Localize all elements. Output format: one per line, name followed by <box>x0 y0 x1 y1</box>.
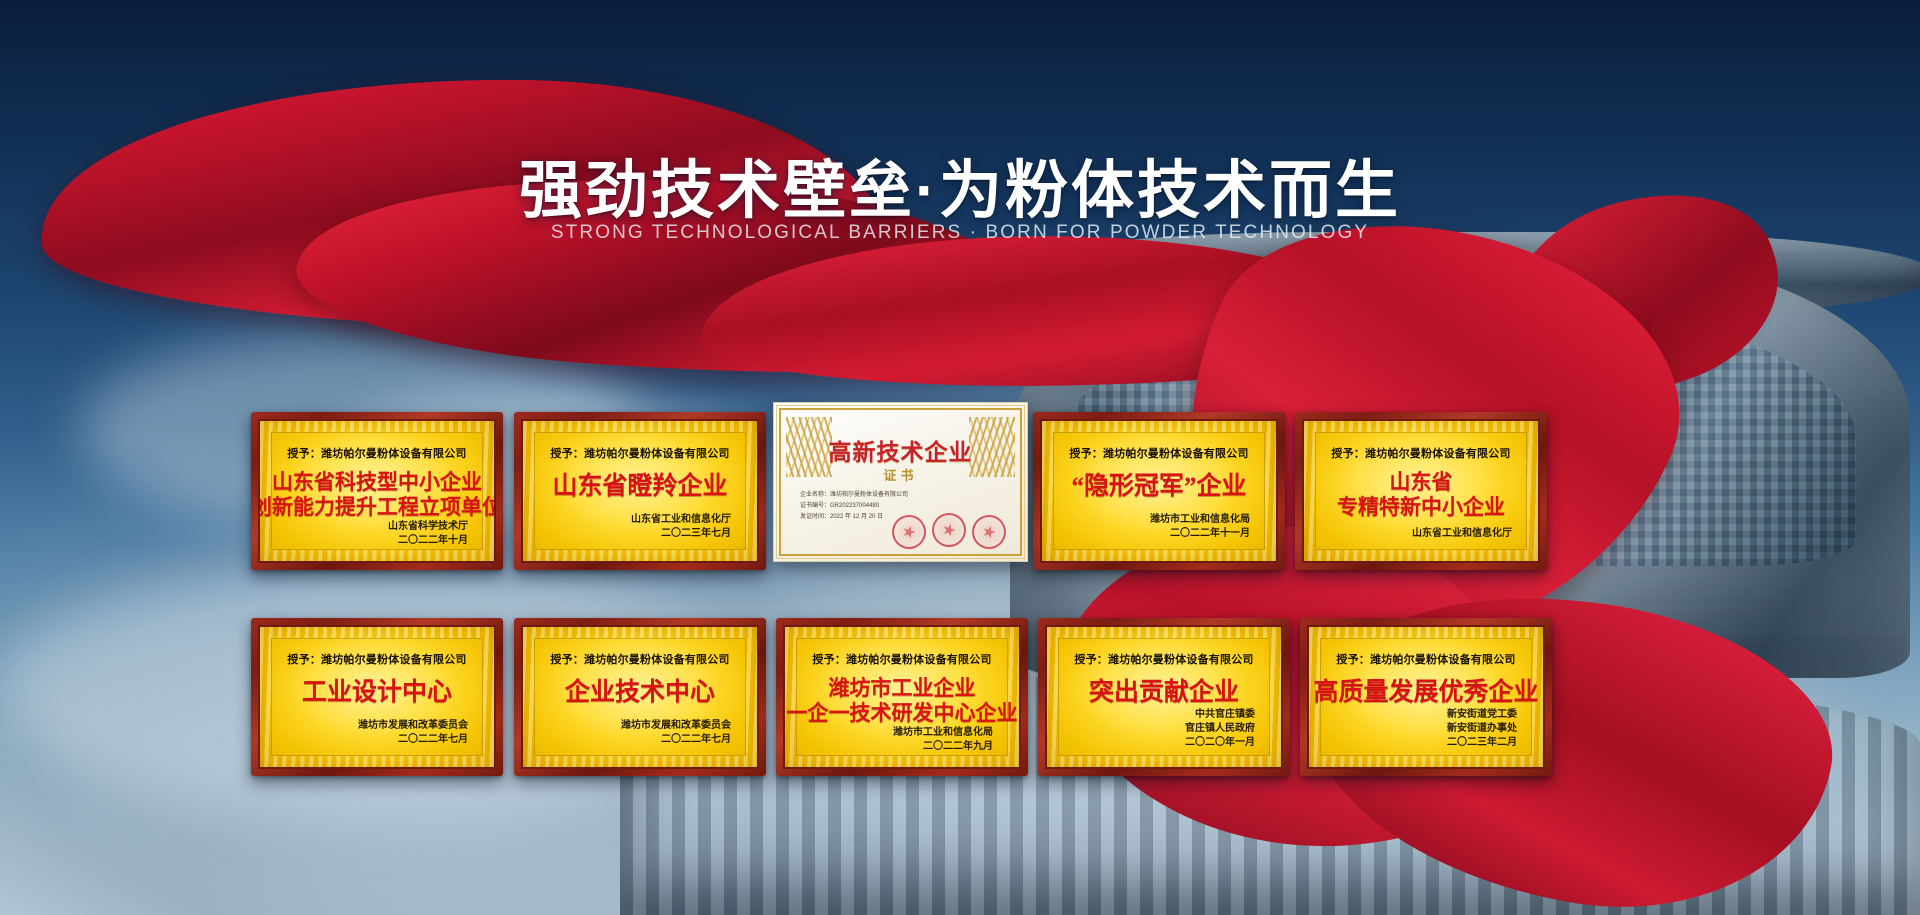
certificate-gallery: 授予：潍坊帕尔曼粉体设备有限公司 山东省科技型中小企业 创新能力提升工程立项单位… <box>0 0 1920 915</box>
plaque-issuer: 山东省工业和信息化厅 <box>631 513 731 527</box>
plaque-footer: 中共官庄镇委 官庄镇人民政府 二〇二〇年一月 <box>1185 708 1255 750</box>
plaque-title-line2: 创新能力提升工程立项单位 <box>258 495 496 520</box>
certificate-detail-line: 发证时间：2022 年 12 月 20 日 <box>800 511 883 520</box>
official-seal-icon <box>892 515 926 549</box>
plaque-footer: 新安街道党工委 新安街道办事处 二〇二三年二月 <box>1447 708 1517 750</box>
plaque-award-to: 授予：潍坊帕尔曼粉体设备有限公司 <box>1336 651 1515 667</box>
certificate-detail-line: 证书编号：GR202237004480 <box>800 500 879 509</box>
plaque-title-line1: 高质量发展优秀企业 <box>1313 678 1538 708</box>
plaque-panel: 授予：潍坊帕尔曼粉体设备有限公司 潍坊市工业企业 一企一技术研发中心企业 潍坊市… <box>783 625 1021 769</box>
plaque-issuer-2: 新安街道办事处 <box>1447 722 1517 736</box>
high-tech-enterprise-certificate[interactable]: 高新技术企业 证书 企业名称：潍坊帕尔曼粉体设备有限公司 证书编号：GR2022… <box>773 402 1028 562</box>
plaque-award-to: 授予：潍坊帕尔曼粉体设备有限公司 <box>287 651 466 667</box>
plaque-issuer: 山东省科学技术厅 <box>388 520 468 534</box>
plaque-issuer: 潍坊市发展和改革委员会 <box>358 719 468 733</box>
certificate-title: 高新技术企业 <box>774 433 1027 467</box>
plaque-award-to: 授予：潍坊帕尔曼粉体设备有限公司 <box>1074 651 1253 667</box>
plaque-panel: 授予：潍坊帕尔曼粉体设备有限公司 企业技术中心 潍坊市发展和改革委员会 二〇二二… <box>521 625 759 769</box>
plaque-footer: 山东省科学技术厅 二〇二二年十月 <box>388 520 468 548</box>
certificate-plaque[interactable]: 授予：潍坊帕尔曼粉体设备有限公司 工业设计中心 潍坊市发展和改革委员会 二〇二二… <box>251 618 503 776</box>
plaque-panel: 授予：潍坊帕尔曼粉体设备有限公司 山东省科技型中小企业 创新能力提升工程立项单位… <box>258 419 496 563</box>
plaque-title-line2: 专精特新中小企业 <box>1337 495 1505 520</box>
plaque-title-line1: 企业技术中心 <box>565 678 715 708</box>
plaque-footer: 山东省工业和信息化厅 二〇二三年七月 <box>631 513 731 541</box>
plaque-award-to: 授予：潍坊帕尔曼粉体设备有限公司 <box>1331 445 1510 461</box>
plaque-title-line1: 突出贡献企业 <box>1089 678 1239 708</box>
certificate-plaque[interactable]: 授予：潍坊帕尔曼粉体设备有限公司 突出贡献企业 中共官庄镇委 官庄镇人民政府 二… <box>1038 618 1290 776</box>
plaque-award-to: 授予：潍坊帕尔曼粉体设备有限公司 <box>812 651 991 667</box>
plaque-title: 山东省科技型中小企业 创新能力提升工程立项单位 <box>258 470 496 520</box>
plaque-footer: 山东省工业和信息化厅 <box>1412 527 1512 541</box>
plaque-issuer: 潍坊市工业和信息化局 <box>893 726 993 740</box>
certificate-plaque[interactable]: 授予：潍坊帕尔曼粉体设备有限公司 企业技术中心 潍坊市发展和改革委员会 二〇二二… <box>514 618 766 776</box>
plaque-title-line1: 山东省瞪羚企业 <box>552 472 727 502</box>
plaque-panel: 授予：潍坊帕尔曼粉体设备有限公司 工业设计中心 潍坊市发展和改革委员会 二〇二二… <box>258 625 496 769</box>
plaque-panel: 授予：潍坊帕尔曼粉体设备有限公司 山东省瞪羚企业 山东省工业和信息化厅 二〇二三… <box>521 419 759 563</box>
plaque-date: 二〇二〇年一月 <box>1185 736 1255 750</box>
plaque-date: 二〇二三年七月 <box>631 527 731 541</box>
official-seal-icon <box>932 513 966 547</box>
plaque-footer: 潍坊市发展和改革委员会 二〇二二年七月 <box>358 719 468 747</box>
plaque-title-line1: 山东省科技型中小企业 <box>258 470 496 495</box>
certificate-plaque[interactable]: 授予：潍坊帕尔曼粉体设备有限公司 山东省瞪羚企业 山东省工业和信息化厅 二〇二三… <box>514 412 766 570</box>
certificate-plaque[interactable]: 授予：潍坊帕尔曼粉体设备有限公司 高质量发展优秀企业 新安街道党工委 新安街道办… <box>1300 618 1552 776</box>
certificate-plaque[interactable]: 授予：潍坊帕尔曼粉体设备有限公司 山东省科技型中小企业 创新能力提升工程立项单位… <box>251 412 503 570</box>
plaque-title: 山东省瞪羚企业 <box>552 472 727 502</box>
certificate-plaque[interactable]: 授予：潍坊帕尔曼粉体设备有限公司 “隐形冠军”企业 潍坊市工业和信息化局 二〇二… <box>1033 412 1285 570</box>
plaque-date: 二〇二三年二月 <box>1447 736 1517 750</box>
plaque-title: 潍坊市工业企业 一企一技术研发中心企业 <box>787 676 1018 726</box>
plaque-issuer: 新安街道党工委 <box>1447 708 1517 722</box>
certificate-detail-line: 企业名称：潍坊帕尔曼粉体设备有限公司 <box>800 489 908 498</box>
plaque-title-line1: 工业设计中心 <box>302 678 452 708</box>
plaque-date: 二〇二二年十一月 <box>1150 527 1250 541</box>
plaque-title-line2: 一企一技术研发中心企业 <box>787 701 1018 726</box>
plaque-issuer: 中共官庄镇委 <box>1185 708 1255 722</box>
plaque-issuer: 山东省工业和信息化厅 <box>1412 527 1512 541</box>
plaque-footer: 潍坊市发展和改革委员会 二〇二二年七月 <box>621 719 731 747</box>
plaque-date: 二〇二二年十月 <box>388 534 468 548</box>
plaque-award-to: 授予：潍坊帕尔曼粉体设备有限公司 <box>1069 445 1248 461</box>
plaque-date: 二〇二二年九月 <box>893 740 993 754</box>
plaque-title: 山东省 专精特新中小企业 <box>1337 470 1505 520</box>
certificate-plaque[interactable]: 授予：潍坊帕尔曼粉体设备有限公司 潍坊市工业企业 一企一技术研发中心企业 潍坊市… <box>776 618 1028 776</box>
plaque-panel: 授予：潍坊帕尔曼粉体设备有限公司 突出贡献企业 中共官庄镇委 官庄镇人民政府 二… <box>1045 625 1283 769</box>
plaque-footer: 潍坊市工业和信息化局 二〇二二年十一月 <box>1150 513 1250 541</box>
plaque-award-to: 授予：潍坊帕尔曼粉体设备有限公司 <box>550 651 729 667</box>
plaque-panel: 授予：潍坊帕尔曼粉体设备有限公司 高质量发展优秀企业 新安街道党工委 新安街道办… <box>1307 625 1545 769</box>
certificate-plaque[interactable]: 授予：潍坊帕尔曼粉体设备有限公司 山东省 专精特新中小企业 山东省工业和信息化厅 <box>1295 412 1547 570</box>
plaque-title-line1: 山东省 <box>1337 470 1505 495</box>
page-subtitle: STRONG TECHNOLOGICAL BARRIERS · BORN FOR… <box>0 222 1920 244</box>
plaque-award-to: 授予：潍坊帕尔曼粉体设备有限公司 <box>287 445 466 461</box>
plaque-date: 二〇二二年七月 <box>358 733 468 747</box>
plaque-title-line1: 潍坊市工业企业 <box>787 676 1018 701</box>
plaque-panel: 授予：潍坊帕尔曼粉体设备有限公司 “隐形冠军”企业 潍坊市工业和信息化局 二〇二… <box>1040 419 1278 563</box>
plaque-title: 突出贡献企业 <box>1089 678 1239 708</box>
certificate-subtitle: 证书 <box>774 465 1027 484</box>
plaque-title: “隐形冠军”企业 <box>1071 472 1246 502</box>
plaque-footer: 潍坊市工业和信息化局 二〇二二年九月 <box>893 726 993 754</box>
official-seal-icon <box>972 515 1006 549</box>
plaque-issuer: 潍坊市工业和信息化局 <box>1150 513 1250 527</box>
plaque-issuer: 潍坊市发展和改革委员会 <box>621 719 731 733</box>
plaque-panel: 授予：潍坊帕尔曼粉体设备有限公司 山东省 专精特新中小企业 山东省工业和信息化厅 <box>1302 419 1540 563</box>
plaque-title: 企业技术中心 <box>565 678 715 708</box>
page-title: 强劲技术壁垒·为粉体技术而生 <box>0 140 1920 231</box>
plaque-date: 二〇二二年七月 <box>621 733 731 747</box>
plaque-title-line1: “隐形冠军”企业 <box>1071 472 1246 502</box>
plaque-issuer-2: 官庄镇人民政府 <box>1185 722 1255 736</box>
plaque-title: 工业设计中心 <box>302 678 452 708</box>
plaque-award-to: 授予：潍坊帕尔曼粉体设备有限公司 <box>550 445 729 461</box>
plaque-title: 高质量发展优秀企业 <box>1313 678 1538 708</box>
